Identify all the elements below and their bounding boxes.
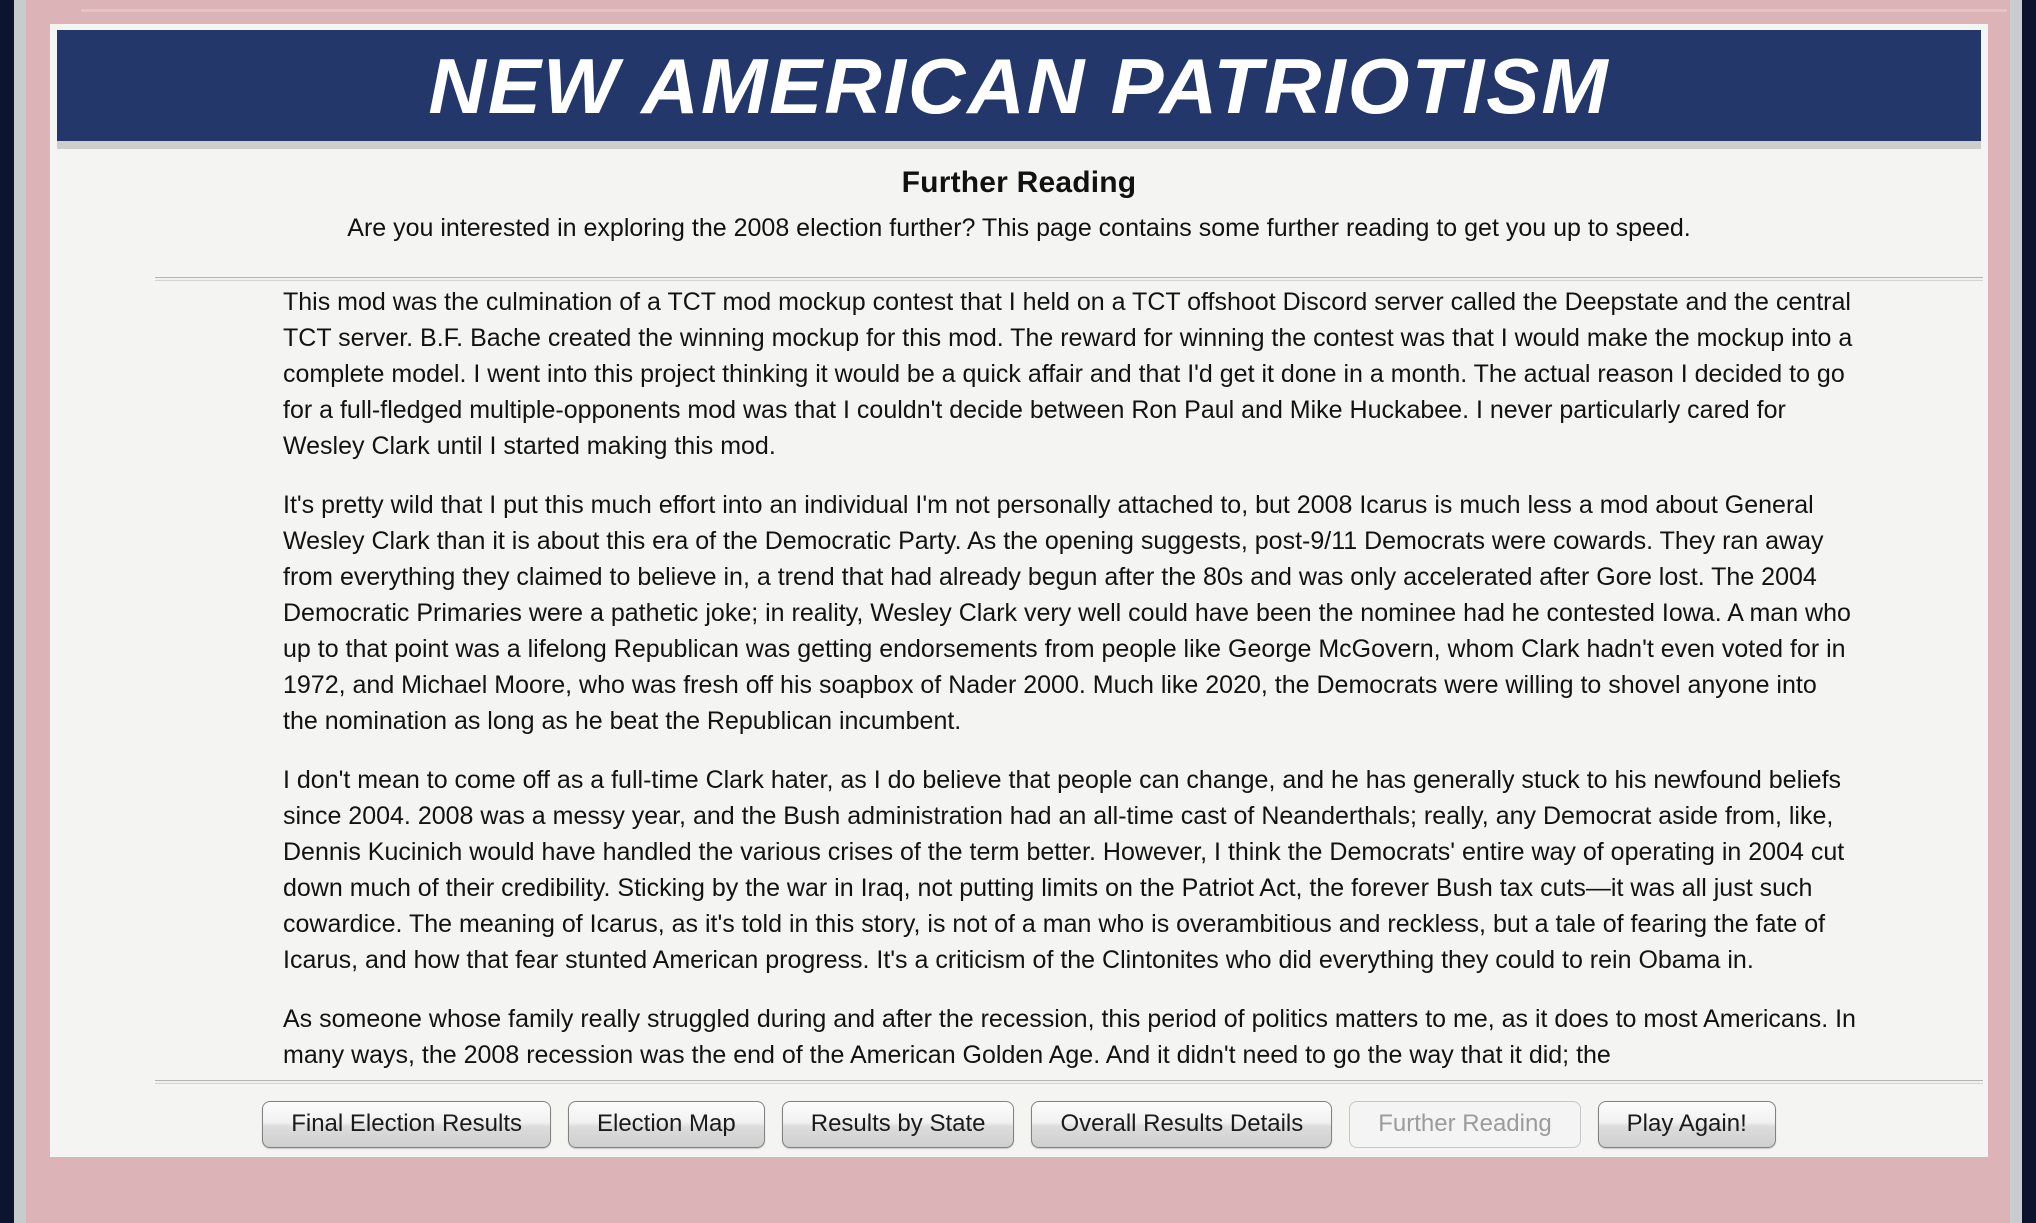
page-title: Further Reading: [57, 166, 1981, 200]
final-election-results-button[interactable]: Final Election Results: [262, 1101, 551, 1148]
desktop-background: NEW AMERICAN PATRIOTISM Further Reading …: [0, 0, 2036, 1223]
banner-shadow-strip: [57, 141, 1981, 149]
pink-hairline-divider: [81, 9, 2007, 12]
application-window: NEW AMERICAN PATRIOTISM Further Reading …: [50, 24, 1988, 1157]
play-again-button[interactable]: Play Again!: [1598, 1101, 1776, 1148]
article-paragraph: As someone whose family really struggled…: [283, 1001, 1858, 1073]
further-reading-button: Further Reading: [1349, 1101, 1580, 1148]
content-top-divider: [155, 277, 1983, 281]
election-map-button[interactable]: Election Map: [568, 1101, 765, 1148]
overall-results-details-button[interactable]: Overall Results Details: [1031, 1101, 1332, 1148]
page-subtitle: Are you interested in exploring the 2008…: [57, 214, 1981, 243]
article-paragraph: I don't mean to come off as a full-time …: [283, 762, 1858, 978]
content-bottom-divider: [155, 1080, 1983, 1084]
article-paragraph: It's pretty wild that I put this much ef…: [283, 487, 1858, 739]
article-scroll-area[interactable]: This mod was the culmination of a TCT mo…: [155, 284, 1983, 1080]
results-by-state-button[interactable]: Results by State: [782, 1101, 1015, 1148]
app-title: NEW AMERICAN PATRIOTISM: [428, 47, 1609, 125]
article-paragraph: This mod was the culmination of a TCT mo…: [283, 284, 1858, 464]
app-banner: NEW AMERICAN PATRIOTISM: [57, 30, 1981, 141]
navigation-button-row: Final Election ResultsElection MapResult…: [57, 1101, 1981, 1148]
